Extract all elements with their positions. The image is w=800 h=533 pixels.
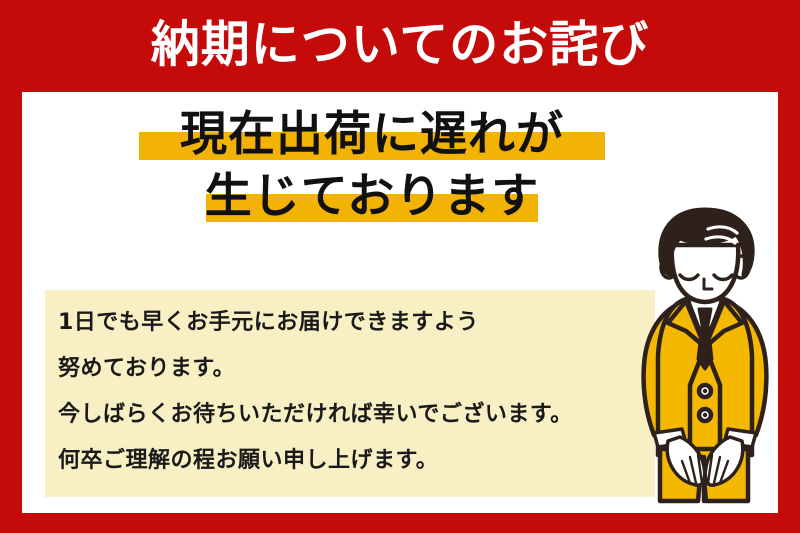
body-line-3: 今しばらくお待ちいただければ幸いでございます。	[58, 392, 658, 438]
body-line-2: 努めております。	[58, 346, 658, 392]
headline-line-2-text: 生じております	[201, 166, 544, 228]
headline-line-2: 生じております	[22, 166, 722, 228]
red-border-bottom	[0, 513, 800, 533]
body-line-1: 1日でも早くお手元にお届けできますよう	[58, 300, 658, 346]
bowing-businessman-illustration	[624, 205, 784, 513]
apology-notice-banner: 納期についてのお詫び 現在出荷に遅れが 生じております 1日でも早くお手元にお届…	[0, 0, 800, 533]
headline-line-1: 現在出荷に遅れが	[22, 104, 722, 166]
headline: 現在出荷に遅れが 生じております	[22, 104, 722, 228]
body-line-4: 何卒ご理解の程お願い申し上げます。	[58, 438, 658, 484]
page-title: 納期についてのお詫び	[0, 8, 800, 82]
body-text: 1日でも早くお手元にお届けできますよう 努めております。 今しばらくお待ちいただ…	[58, 300, 658, 484]
headline-line-1-text: 現在出荷に遅れが	[176, 104, 568, 166]
